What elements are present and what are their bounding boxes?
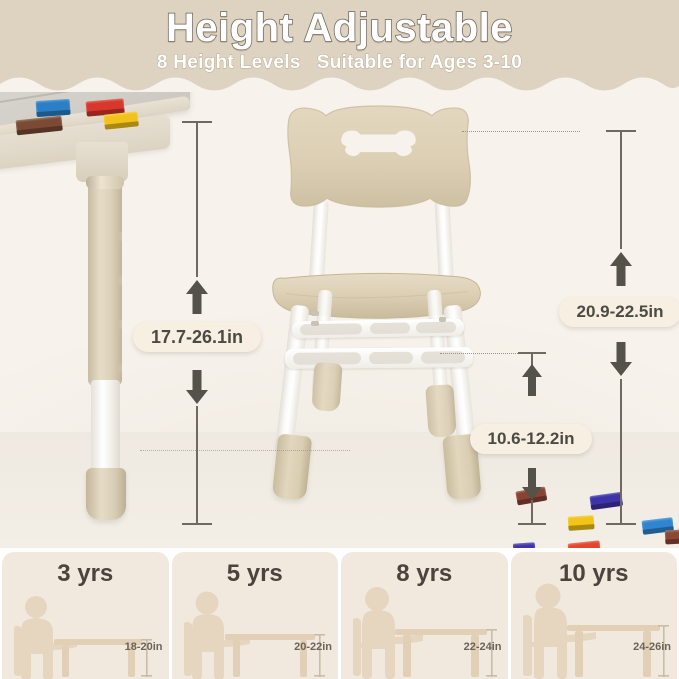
age-card-10-height: 24-26in bbox=[633, 641, 671, 653]
chair-foot-rear-left bbox=[311, 362, 342, 412]
table-leg-lower bbox=[91, 380, 120, 476]
age-card-5-height: 20-22in bbox=[294, 641, 332, 653]
chair-seat-arrow-up bbox=[520, 362, 544, 398]
table-height-label-pill: 17.7-26.1in bbox=[133, 322, 261, 352]
chair-foot-rear-right bbox=[425, 384, 457, 438]
chair-total-label: 20.9-22.5in bbox=[577, 302, 664, 322]
brown-block-floor2 bbox=[665, 530, 679, 541]
table-leg-notch bbox=[117, 232, 122, 241]
chair-leg-notch bbox=[439, 317, 446, 322]
chair-backrest bbox=[275, 105, 480, 215]
chair-seat-arrow-down bbox=[520, 466, 544, 502]
header-banner: Height Adjustable 8 Height Levels Suitab… bbox=[0, 0, 679, 92]
age-card-8: 8 yrs 22-24in bbox=[341, 552, 508, 679]
chair-seat-line-bottom bbox=[531, 500, 533, 524]
table-height-label: 17.7-26.1in bbox=[151, 327, 243, 348]
age-card-5-silhouette bbox=[176, 584, 328, 679]
table-leg-notch bbox=[117, 364, 122, 373]
chair-total-line-top bbox=[620, 131, 622, 249]
yellow-block bbox=[104, 111, 139, 125]
chair-brace-lower bbox=[285, 347, 473, 369]
chair-leg-notch bbox=[311, 311, 319, 316]
table-height-line-top bbox=[196, 122, 198, 277]
table-height-line-bottom bbox=[196, 406, 198, 524]
infographic-canvas: 17.7-26.1in 20.9-22.5in 10.6-1 bbox=[0, 0, 679, 679]
chair-group bbox=[255, 105, 505, 548]
chair-total-arrow-up bbox=[608, 250, 634, 288]
chair-total-line-bottom bbox=[620, 379, 622, 524]
chair-total-arrow-down bbox=[608, 340, 634, 378]
blue-block bbox=[36, 99, 71, 113]
page-title: Height Adjustable bbox=[0, 6, 679, 51]
subtitle-levels: 8 Height Levels bbox=[157, 52, 301, 74]
block-side bbox=[665, 539, 679, 545]
age-card-8-height: 22-24in bbox=[464, 641, 502, 653]
age-card-3-age: 3 yrs bbox=[2, 560, 169, 588]
table-leg-notch bbox=[117, 276, 122, 285]
subtitle-ages: Suitable for Ages 3-10 bbox=[317, 52, 522, 74]
table-height-bottom-cap bbox=[182, 523, 212, 525]
age-card-10: 10 yrs 24-26in bbox=[511, 552, 678, 679]
age-card-10-silhouette bbox=[515, 579, 671, 679]
chair-top-leader bbox=[462, 131, 580, 132]
age-card-5: 5 yrs 20-22in bbox=[172, 552, 339, 679]
red-block bbox=[86, 98, 125, 112]
table-leg-notch bbox=[117, 320, 122, 329]
chair-leg-notch bbox=[311, 321, 319, 326]
scalloped-divider bbox=[0, 75, 679, 92]
chair-total-label-pill: 20.9-22.5in bbox=[559, 297, 679, 327]
chair-seat-label-pill: 10.6-12.2in bbox=[470, 424, 592, 454]
yellow-block-floor bbox=[568, 515, 595, 527]
floor-reference-line bbox=[140, 450, 350, 451]
chair-seat-label: 10.6-12.2in bbox=[488, 429, 575, 449]
age-recommendation-strip: 3 yrs 18-20in 5 yrs bbox=[0, 548, 679, 679]
age-card-3-silhouette bbox=[6, 587, 156, 679]
age-card-3: 3 yrs 18-20in bbox=[2, 552, 169, 679]
chair-total-bottom-cap bbox=[606, 523, 636, 525]
age-card-3-height: 18-20in bbox=[125, 641, 163, 653]
age-card-8-silhouette bbox=[345, 581, 499, 679]
table-leg-foot bbox=[86, 468, 126, 520]
table-leg-collar bbox=[86, 176, 124, 189]
table-height-arrow-up bbox=[184, 278, 210, 316]
table-height-arrow-down bbox=[184, 368, 210, 406]
chair-foot-front-left bbox=[272, 433, 313, 500]
header-subtitle: 8 Height Levels Suitable for Ages 3-10 bbox=[0, 52, 679, 74]
chair-seat-bottom-cap bbox=[518, 523, 546, 525]
